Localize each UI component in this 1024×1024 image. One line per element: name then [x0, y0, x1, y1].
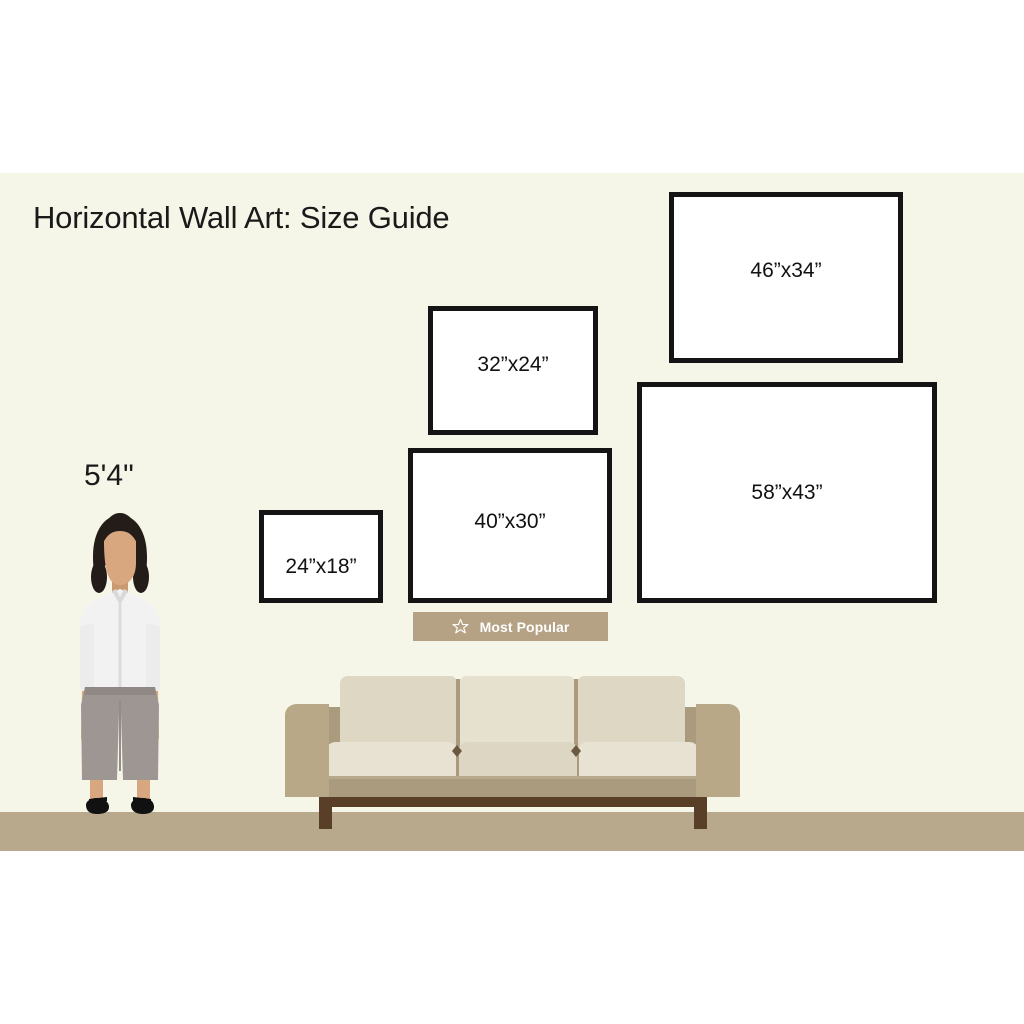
- frame-32x24[interactable]: 32”x24”: [428, 306, 598, 435]
- person-height-label: 5'4": [84, 459, 134, 493]
- frame-40x30-label: 40”x30”: [474, 510, 545, 534]
- frame-24x18[interactable]: 24”x18”: [259, 510, 383, 603]
- frame-40x30[interactable]: 40”x30”: [408, 448, 612, 603]
- page-title: Horizontal Wall Art: Size Guide: [33, 200, 449, 236]
- frame-24x18-label: 24”x18”: [285, 555, 356, 579]
- frame-58x43[interactable]: 58”x43”: [637, 382, 937, 603]
- frame-58x43-label: 58”x43”: [751, 481, 822, 505]
- frame-46x34-label: 46”x34”: [750, 259, 821, 283]
- most-popular-badge[interactable]: Most Popular: [413, 612, 608, 641]
- woman-silhouette: [60, 505, 180, 830]
- frame-32x24-label: 32”x24”: [477, 353, 548, 377]
- frame-46x34[interactable]: 46”x34”: [669, 192, 903, 363]
- three-seat-sofa: [285, 663, 740, 835]
- star-outline-icon: [452, 618, 469, 635]
- most-popular-label: Most Popular: [480, 619, 570, 635]
- size-guide-canvas: Horizontal Wall Art: Size Guide 5'4": [0, 0, 1024, 1024]
